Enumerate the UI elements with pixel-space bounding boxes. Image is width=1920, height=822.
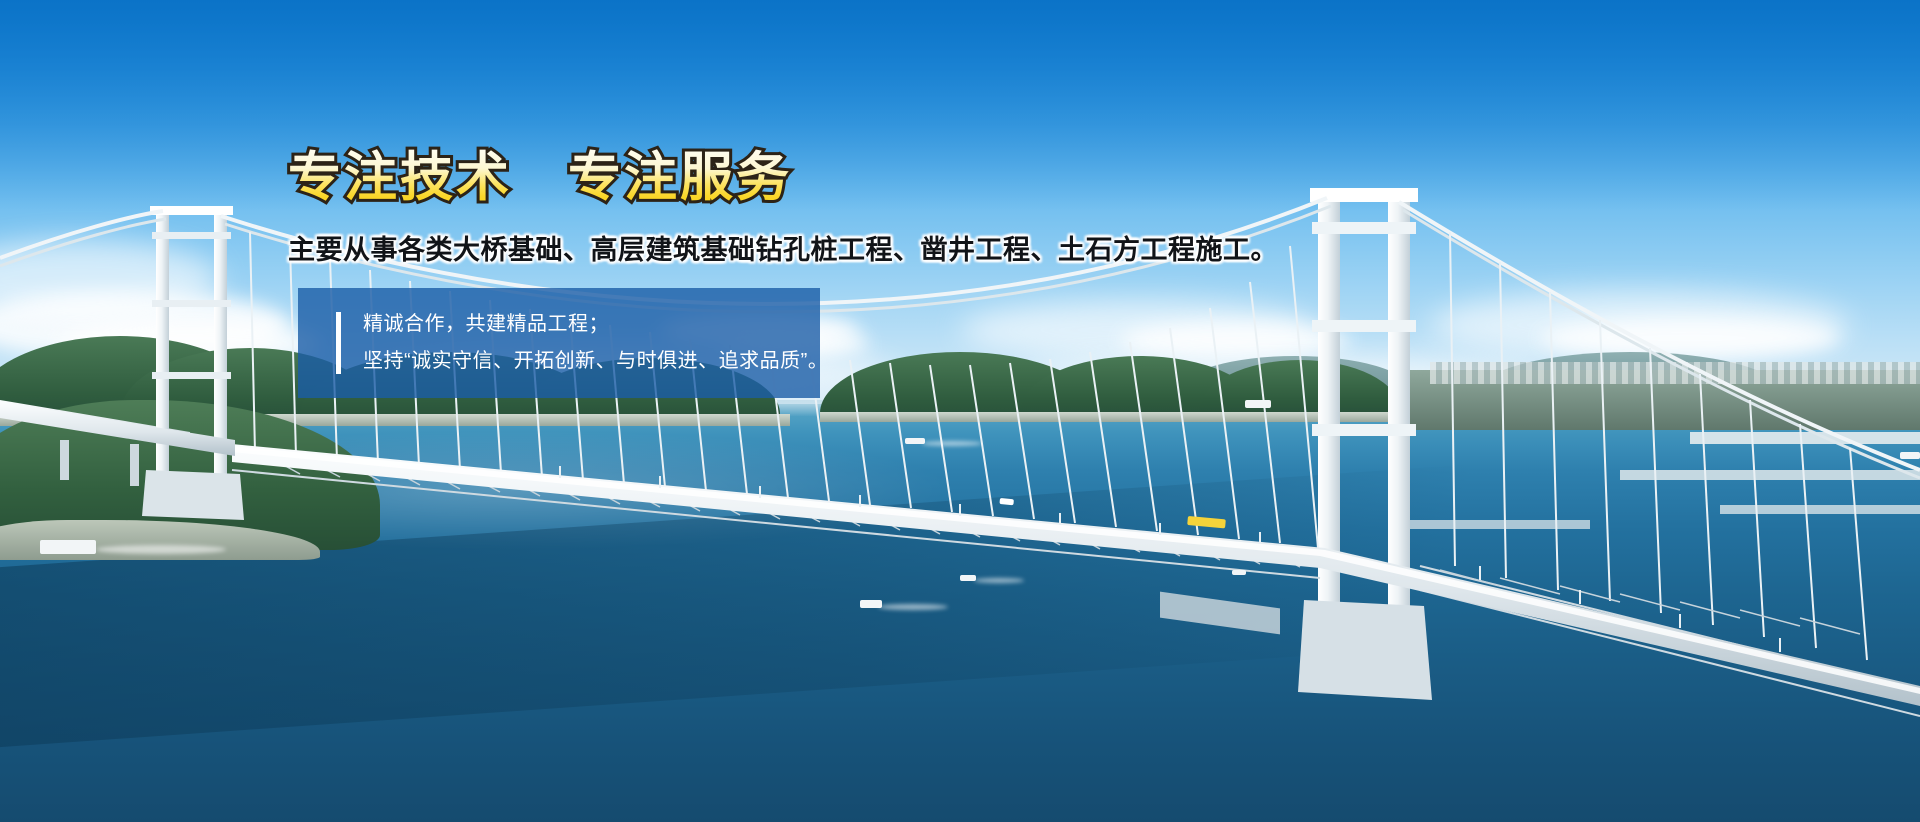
boat xyxy=(1245,400,1271,408)
boat xyxy=(1232,570,1246,575)
hero-banner: 专注技术 专注服务 专注技术 专注服务 主要从事各类大桥基础、高层建筑基础钻孔桩… xyxy=(0,0,1920,822)
slogan-line-2: 坚持“诚实守信、开拓创新、与时俱进、追求品质”。 xyxy=(363,343,828,380)
boat-wake xyxy=(974,578,1024,583)
accent-bar xyxy=(336,312,341,374)
banner-subtitle: 主要从事各类大桥基础、高层建筑基础钻孔桩工程、凿井工程、土石方工程施工。 xyxy=(288,228,1588,267)
boat xyxy=(1900,452,1920,459)
headline-wrapper: 专注技术 专注服务 专注技术 专注服务 xyxy=(288,148,792,208)
suspension-bridge xyxy=(0,0,1920,822)
bridge-deck xyxy=(0,402,1920,706)
bridge-tower-left xyxy=(142,206,244,520)
slogan-line-1: 精诚合作，共建精品工程； xyxy=(363,306,828,343)
boat xyxy=(40,540,96,554)
page-title: 专注技术 专注服务 xyxy=(288,148,792,208)
slogan-box: 精诚合作，共建精品工程； 坚持“诚实守信、开拓创新、与时俱进、追求品质”。 xyxy=(298,288,820,398)
banner-text-block: 专注技术 专注服务 专注技术 专注服务 主要从事各类大桥基础、高层建筑基础钻孔桩… xyxy=(288,148,1588,267)
bridge-truss xyxy=(232,450,1920,716)
slogan-lines: 精诚合作，共建精品工程； 坚持“诚实守信、开拓创新、与时俱进、追求品质”。 xyxy=(363,306,828,380)
boat-wake xyxy=(922,441,982,446)
boat-wake xyxy=(96,545,226,554)
boat-wake xyxy=(878,604,948,610)
